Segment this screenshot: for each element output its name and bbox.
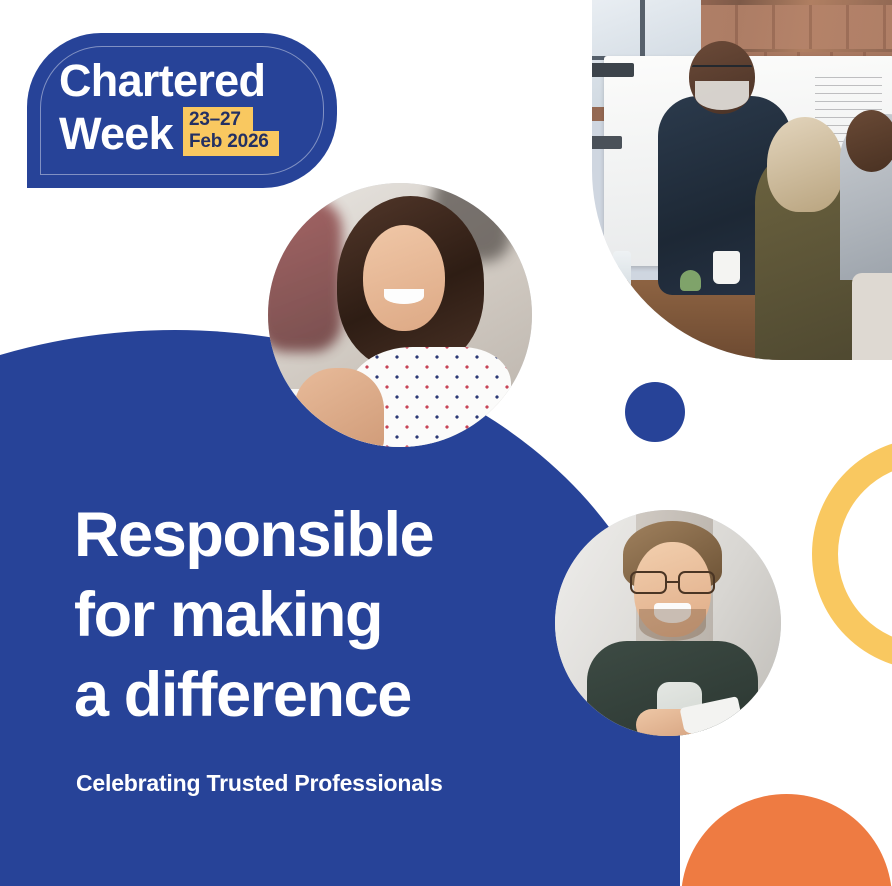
date-badge-month-year: Feb 2026: [183, 131, 279, 156]
glasses-bridge: [667, 581, 677, 584]
man-beard: [639, 609, 707, 641]
headline-line-2: for making: [74, 575, 433, 655]
coffee-mug: [713, 251, 740, 284]
headline-line-3: a difference: [74, 655, 433, 735]
yellow-ring-shape: [812, 438, 892, 670]
headline-line-1: Responsible: [74, 495, 433, 575]
background-figure-left: [268, 199, 342, 352]
presenter-glasses: [692, 65, 752, 80]
man-glasses: [630, 571, 716, 594]
desk-plant: [680, 270, 701, 292]
blue-dot-shape: [625, 382, 685, 442]
office-chair: [852, 273, 892, 360]
logo-line-week: Week: [59, 108, 173, 160]
glasses-lens-right: [678, 571, 716, 594]
date-badge-days: 23–27: [183, 107, 253, 131]
date-badge: 23–27 Feb 2026: [183, 107, 279, 156]
foreground-hand: [294, 368, 384, 447]
poster-canvas: Chartered Week 23–27 Feb 2026 Responsibl…: [0, 0, 892, 886]
shelf-lower: [592, 136, 622, 149]
glasses-lens-left: [630, 571, 668, 594]
photo-meeting-scene: [592, 0, 892, 360]
chartered-week-logo[interactable]: Chartered Week 23–27 Feb 2026: [27, 33, 337, 188]
colleague-woman-hair: [767, 117, 843, 211]
photo-woman: [268, 183, 532, 447]
water-bottle: [613, 251, 631, 302]
orange-circle-shape: [681, 794, 892, 886]
photo-meeting: [592, 0, 892, 360]
logo-line-week-row: Week 23–27 Feb 2026: [59, 107, 323, 160]
logo-line-chartered: Chartered: [59, 55, 323, 107]
headline: Responsible for making a difference: [74, 495, 433, 735]
shelf-upper: [592, 63, 634, 77]
colleague-man-head: [846, 110, 892, 172]
logo-text-block: Chartered Week 23–27 Feb 2026: [59, 55, 323, 174]
subheadline: Celebrating Trusted Professionals: [76, 770, 443, 797]
photo-man: [555, 510, 781, 736]
presenter-beard: [695, 81, 749, 110]
woman-face: [363, 225, 445, 331]
